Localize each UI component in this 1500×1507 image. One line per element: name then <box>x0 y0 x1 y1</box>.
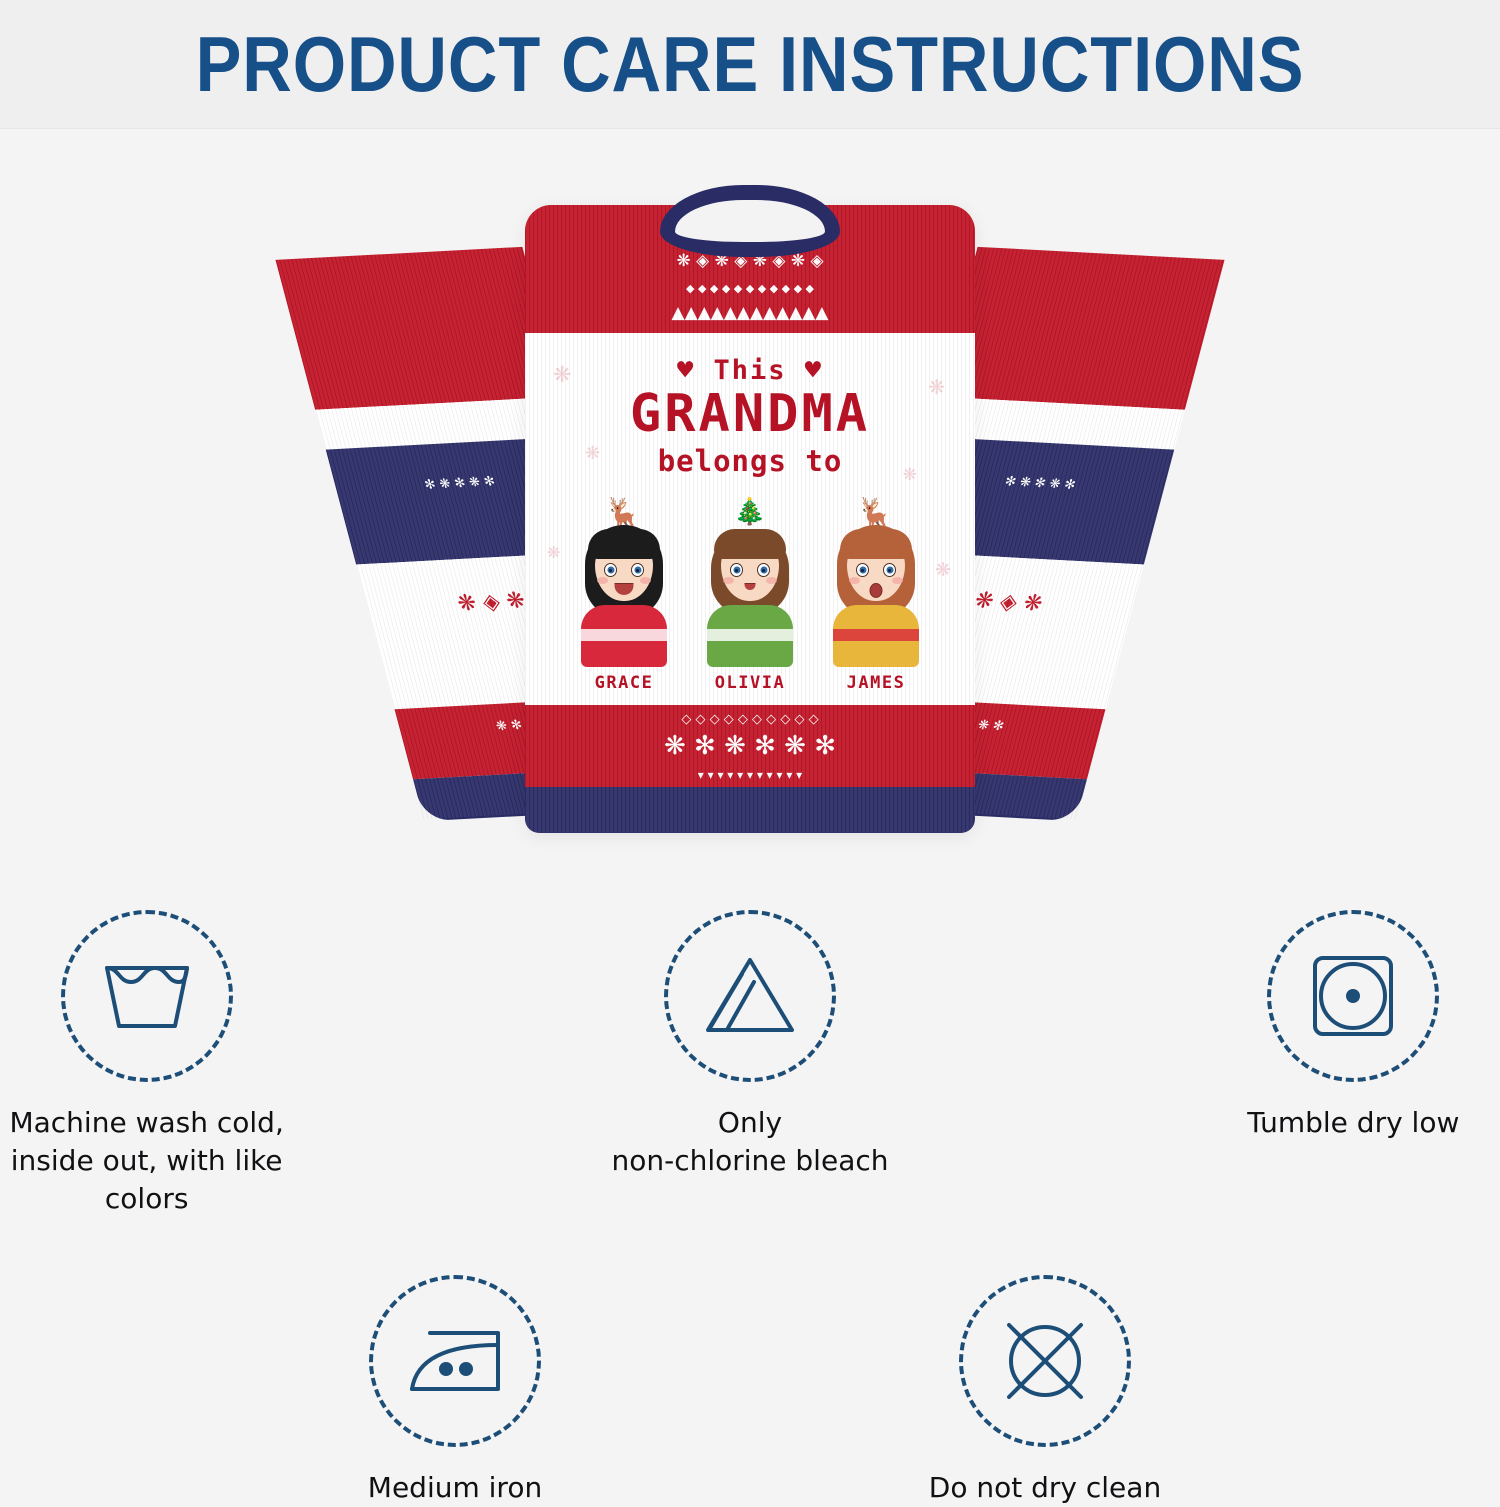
character-art: 🎄 <box>691 499 809 667</box>
cheek-right <box>766 577 777 584</box>
shirt-band <box>581 629 667 641</box>
care-row-bottom: Medium iron Do not dry clean <box>0 1217 1500 1507</box>
mouth <box>615 583 634 595</box>
care-item-machine-wash: Machine wash cold, inside out, with like… <box>0 910 293 1217</box>
character-name: OLIVIA <box>691 673 809 693</box>
print-line-belongs-to: belongs to <box>525 444 975 478</box>
cheek-left <box>849 577 860 584</box>
care-item-dry-clean: Do not dry clean <box>880 1275 1210 1507</box>
care-icon-ring <box>959 1275 1131 1447</box>
sleeve-red-top <box>275 247 562 410</box>
sweater-body: ▾ ▾ ▾ ▾ ▾ ▾ ▾ ▾ ▾ ▾ ❋ ◈ ❋ ◈ ❋ ◈ ❋ ◈ ◆ ◆ … <box>525 205 975 833</box>
sleeve-red-top <box>938 247 1225 410</box>
care-item-bleach: Only non-chlorine bleach <box>603 910 896 1217</box>
wash-tub-icon <box>99 954 195 1038</box>
cheek-right <box>640 577 651 584</box>
care-label: Only non-chlorine bleach <box>611 1104 888 1180</box>
bleach-triangle-icon <box>702 952 798 1040</box>
print-line-this: ♥ This ♥ <box>525 355 975 386</box>
care-label: Tumble dry low <box>1247 1104 1459 1142</box>
character-olivia: 🎄 <box>691 499 809 693</box>
character-row: 🦌 <box>525 483 975 693</box>
page-title: PRODUCT CARE INSTRUCTIONS <box>196 25 1305 103</box>
care-label: Machine wash cold, inside out, with like… <box>0 1104 293 1217</box>
mouth <box>870 583 883 598</box>
care-icon-ring <box>664 910 836 1082</box>
eye-right <box>883 563 896 577</box>
care-icon-ring <box>1267 910 1439 1082</box>
print-line-grandma: GRANDMA <box>525 388 975 440</box>
sweater-collar <box>660 185 840 257</box>
fringe <box>588 529 660 559</box>
fringe <box>840 529 912 559</box>
shirt <box>581 605 667 667</box>
sweater-hem-pattern: ◇ ◇ ◇ ◇ ◇ ◇ ◇ ◇ ◇ ◇ ❋ ✻ ❋ ✻ ❋ ✻ ▾ ▾ ▾ ▾ … <box>525 705 975 787</box>
character-name: JAMES <box>817 673 935 693</box>
sweater-illustration: ✻ ❋ ✻ ❋ ✻ ❋ ◈ ❋ ❋ ✻ ❋ ✻ ✻ ❋ ✻ ❋ ✻ ❋ ◈ ❋ … <box>350 173 1150 863</box>
care-item-tumble-dry: Tumble dry low <box>1207 910 1500 1217</box>
character-art: 🦌 <box>817 499 935 667</box>
cheek-left <box>597 577 608 584</box>
care-instructions-section: Machine wash cold, inside out, with like… <box>0 888 1500 1500</box>
character-art: 🦌 <box>565 499 683 667</box>
character-grace: 🦌 <box>565 499 683 693</box>
product-image-area: ✻ ❋ ✻ ❋ ✻ ❋ ◈ ❋ ❋ ✻ ❋ ✻ ✻ ❋ ✻ ❋ ✻ ❋ ◈ ❋ … <box>0 128 1500 888</box>
character-james: 🦌 <box>817 499 935 693</box>
care-icon-ring <box>369 1275 541 1447</box>
shirt <box>833 605 919 667</box>
cheek-right <box>892 577 903 584</box>
care-label: Medium iron <box>368 1469 542 1507</box>
do-not-dry-clean-icon <box>999 1315 1091 1407</box>
eye-right <box>631 563 644 577</box>
fringe <box>714 529 786 559</box>
character-name: GRACE <box>565 673 683 693</box>
shirt <box>707 605 793 667</box>
page-header: PRODUCT CARE INSTRUCTIONS <box>0 0 1500 129</box>
mouth <box>745 583 756 590</box>
cheek-left <box>723 577 734 584</box>
christmas-tree-icon: 🎄 <box>734 499 766 525</box>
sweater-print: ♥ This ♥ GRANDMA belongs to 🦌 <box>525 333 975 705</box>
eye-left <box>730 563 743 577</box>
care-row-top: Machine wash cold, inside out, with like… <box>0 888 1500 1217</box>
care-icon-ring <box>61 910 233 1082</box>
shirt-band <box>707 629 793 641</box>
care-item-iron: Medium iron <box>290 1275 620 1507</box>
eye-left <box>856 563 869 577</box>
eye-right <box>757 563 770 577</box>
iron-medium-icon <box>406 1325 504 1397</box>
shirt-band <box>833 629 919 641</box>
eye-left <box>604 563 617 577</box>
tumble-dry-low-icon <box>1310 953 1396 1039</box>
sweater-bottom-rib <box>525 787 975 833</box>
care-label: Do not dry clean <box>929 1469 1161 1507</box>
